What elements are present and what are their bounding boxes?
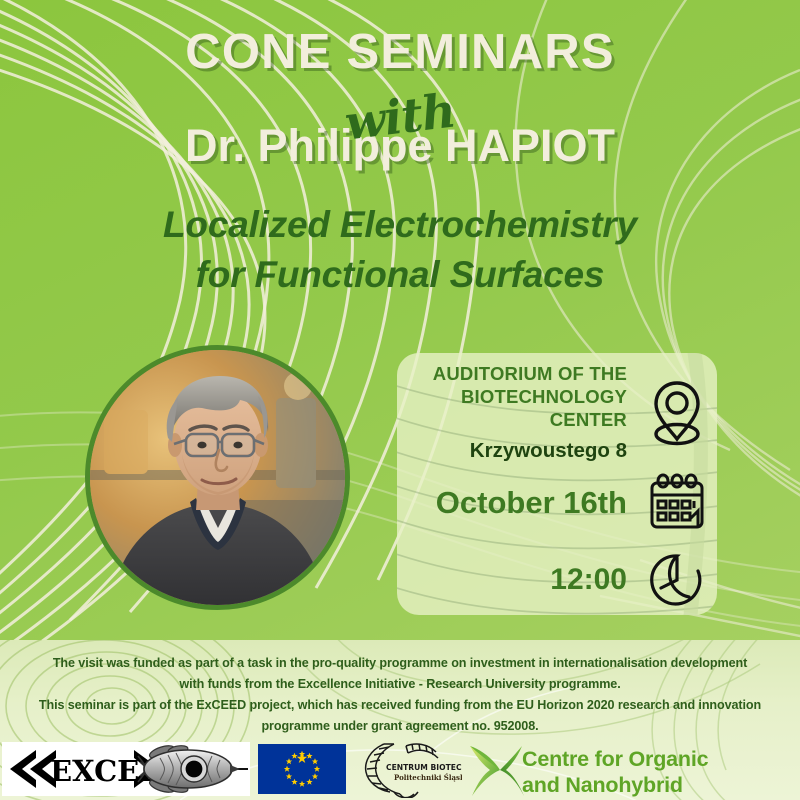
logo-strip: EXCEED <box>0 738 800 800</box>
event-time: 12:00 <box>550 563 627 596</box>
funding-paragraph-2-line-2: programme under grant agreement no. 9520… <box>8 718 792 734</box>
cone-logo: Centre for Organic and Nanohybrid Electr… <box>460 740 798 800</box>
funding-paragraph-1-line-1: The visit was funded as part of a task i… <box>8 655 792 671</box>
cone-line-1: Centre for Organic <box>522 746 798 772</box>
calendar-icon <box>637 473 717 533</box>
venue-line-2: BIOTECHNOLOGY <box>397 386 627 409</box>
event-details-rows: AUDITORIUM OF THE BIOTECHNOLOGY CENTER K… <box>397 353 717 615</box>
talk-title-line-2: for Functional Surfaces <box>0 250 800 300</box>
funding-paragraph-2-line-1: This seminar is part of the ExCEED proje… <box>8 697 792 713</box>
funding-paragraph-1-line-2: with funds from the Excellence Initiativ… <box>8 676 792 692</box>
cone-wordmark: Centre for Organic and Nanohybrid Electr… <box>522 746 798 800</box>
funding-acknowledgement: The visit was funded as part of a task i… <box>8 655 792 739</box>
speaker-portrait <box>85 345 350 610</box>
talk-title: Localized Electrochemistry for Functiona… <box>0 200 800 300</box>
centrum-biotechnologii-line-1: CENTRUM BIOTECHNOLOGII <box>386 763 462 772</box>
cone-line-2: and Nanohybrid Electronics <box>522 772 798 800</box>
poster-header: CONE SEMINARS Dr. Philippe HAPIOT with <box>0 28 800 168</box>
european-union-flag <box>258 744 346 794</box>
event-details-panel: AUDITORIUM OF THE BIOTECHNOLOGY CENTER K… <box>397 353 717 615</box>
venue-street: Krzywoustego 8 <box>397 439 627 463</box>
venue-line-1: AUDITORIUM OF THE <box>397 363 627 386</box>
portrait-illustration <box>90 350 345 605</box>
centrum-biotechnologii-line-2: Politechniki Śląskiej <box>394 773 462 782</box>
map-pin-icon <box>637 377 717 449</box>
time-row: 12:00 <box>397 549 717 611</box>
seminar-poster: CONE SEMINARS Dr. Philippe HAPIOT with L… <box>0 0 800 800</box>
exceed-logo: EXCEED <box>2 742 250 796</box>
event-date: October 16th <box>436 485 627 520</box>
talk-title-line-1: Localized Electrochemistry <box>0 200 800 250</box>
clock-icon <box>637 549 717 611</box>
date-row: October 16th <box>397 473 717 533</box>
centrum-biotechnologii-logo: CENTRUM BIOTECHNOLOGII Politechniki Śląs… <box>350 742 462 798</box>
venue-row: AUDITORIUM OF THE BIOTECHNOLOGY CENTER K… <box>397 363 717 463</box>
venue-line-3: CENTER <box>397 409 627 432</box>
